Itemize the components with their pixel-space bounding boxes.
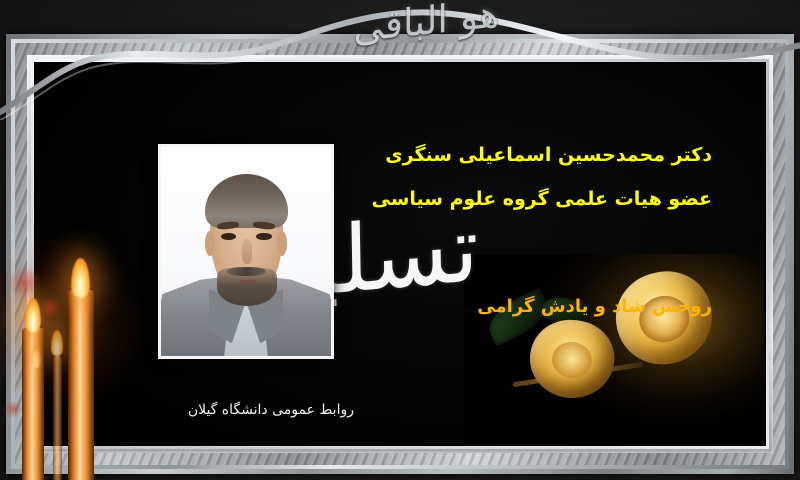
portrait-mouth <box>238 280 257 283</box>
deceased-name: دکتر محمدحسین اسماعیلی سنگری <box>292 144 712 166</box>
candle <box>53 356 62 480</box>
portrait-nose <box>242 239 252 264</box>
bokeh-light <box>40 296 62 318</box>
bokeh-light <box>8 266 42 300</box>
deceased-role: عضو هیات علمی گروه علوم سیاسی <box>292 188 712 210</box>
candle <box>68 290 94 480</box>
prayer-text: روحش شاد و یادش گرامی <box>292 296 712 317</box>
condolence-banner: تسلیت دکتر محمدحسین اسماعیلی سنگری عضو ه… <box>0 0 800 480</box>
candles-decoration <box>0 250 130 480</box>
portrait-eye-right <box>256 233 271 241</box>
portrait-photo <box>158 144 334 359</box>
rose-icon <box>525 315 619 404</box>
rose-stem <box>512 362 643 388</box>
portrait-ear-right <box>277 231 287 256</box>
roses-decoration <box>464 254 764 444</box>
portrait-eye-left <box>221 233 236 241</box>
bokeh-light <box>4 400 22 418</box>
rose-icon <box>607 263 720 373</box>
